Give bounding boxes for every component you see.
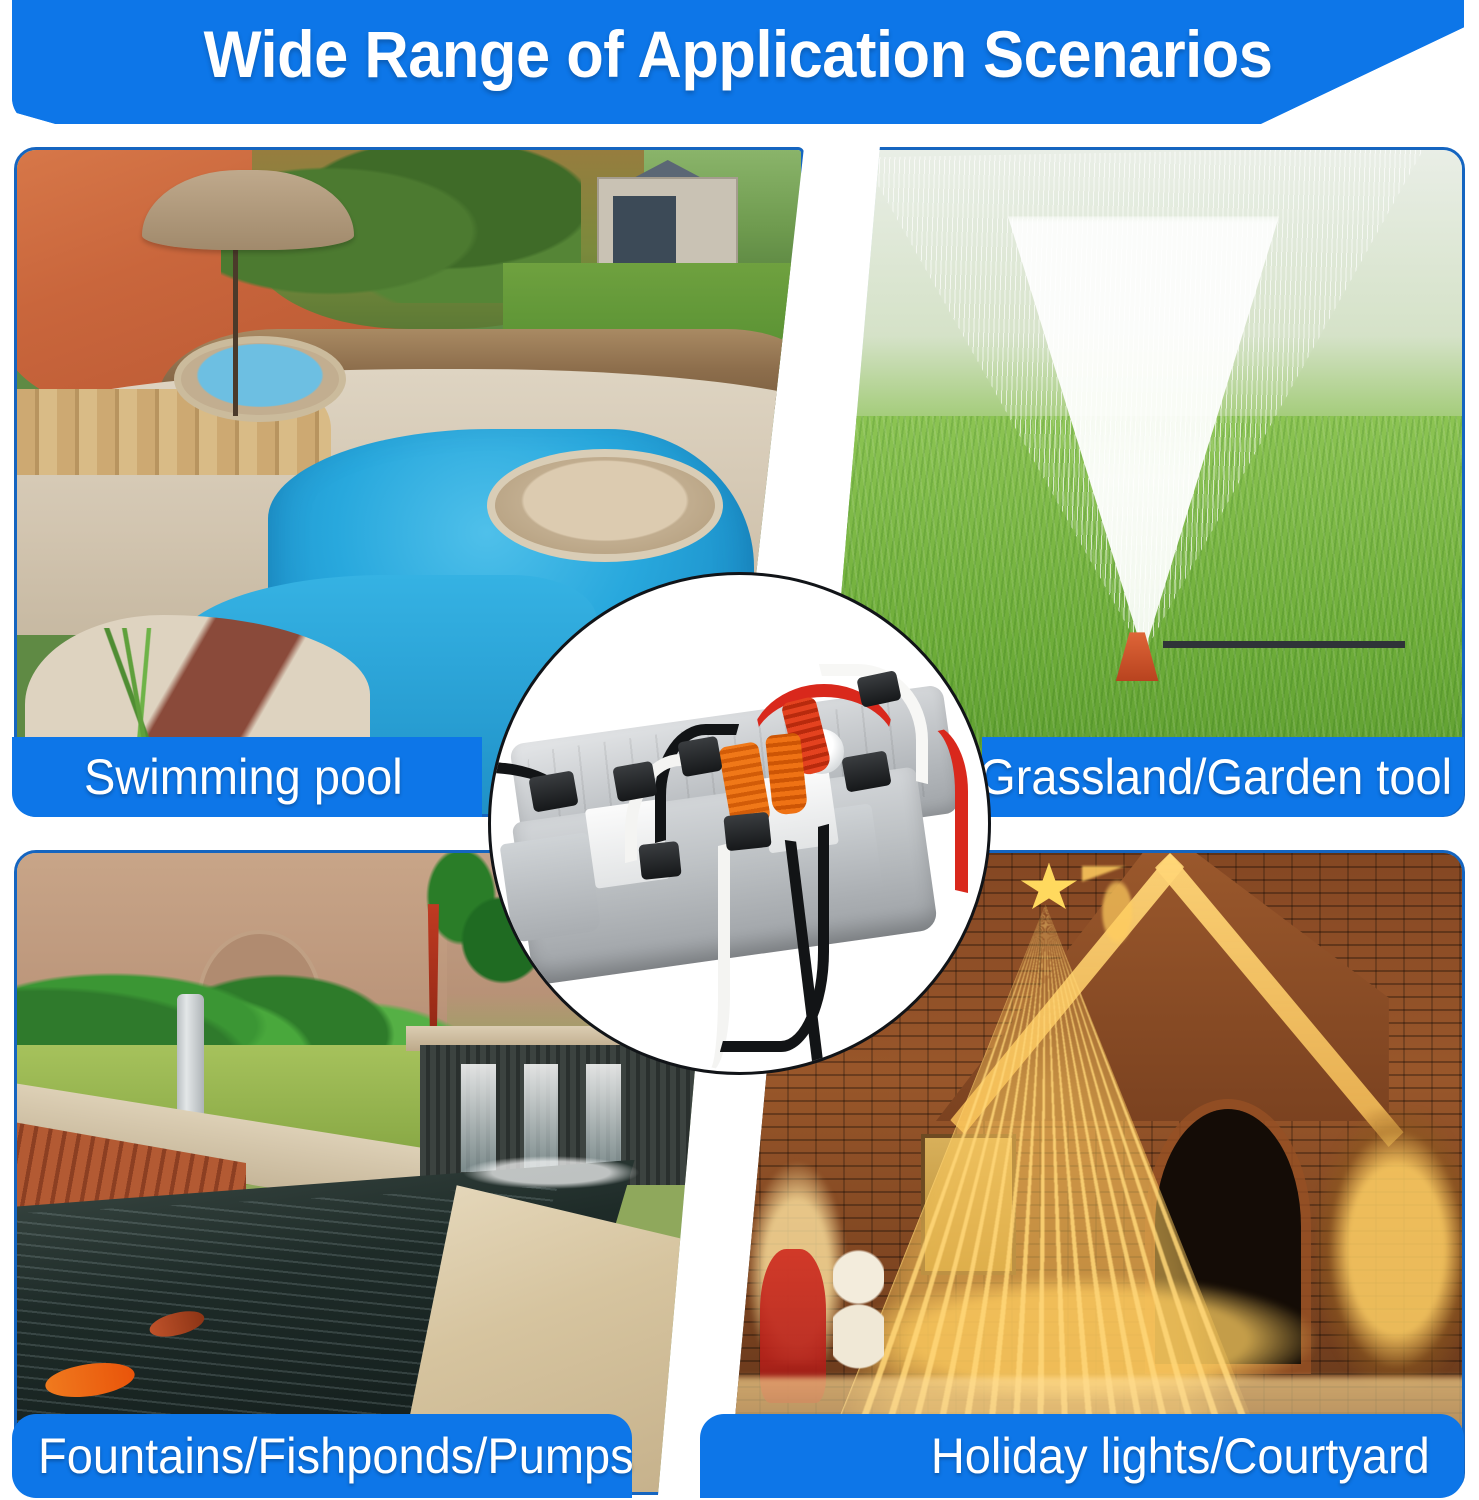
product-closeup-circle bbox=[488, 572, 991, 1075]
header-banner: Wide Range of Application Scenarios bbox=[12, 0, 1464, 124]
pool-spa-right bbox=[487, 449, 722, 562]
waterfall-splash bbox=[447, 1153, 655, 1191]
cord-grip-clamp bbox=[677, 736, 722, 777]
label-fountains-fishponds-pumps: Fountains/Fishponds/Pumps bbox=[12, 1414, 632, 1498]
cord-grip-clamp bbox=[638, 841, 681, 880]
label-fountains-fishponds-pumps-text: Fountains/Fishponds/Pumps bbox=[38, 1427, 634, 1485]
snowman-decoration bbox=[833, 1249, 884, 1390]
label-holiday-lights-courtyard: Holiday lights/Courtyard bbox=[700, 1414, 1464, 1498]
cord-grip-clamp bbox=[723, 811, 771, 850]
infographic-page: Wide Range of Application Scenarios bbox=[0, 0, 1479, 1500]
lit-shrub-right bbox=[1316, 1109, 1465, 1390]
cord-grip-clamp bbox=[613, 761, 658, 802]
label-grassland-garden-tool: Grassland/Garden tool bbox=[982, 737, 1464, 817]
outlet-box-flange-left bbox=[499, 833, 601, 944]
reindeer-light-decoration bbox=[1082, 866, 1170, 1019]
label-swimming-pool: Swimming pool bbox=[12, 737, 482, 817]
cord-grip-clamp bbox=[528, 770, 578, 812]
page-title: Wide Range of Application Scenarios bbox=[63, 8, 1413, 100]
pool-spa-left bbox=[174, 336, 346, 422]
label-holiday-lights-courtyard-text: Holiday lights/Courtyard bbox=[931, 1427, 1430, 1485]
label-swimming-pool-text: Swimming pool bbox=[84, 748, 403, 806]
label-grassland-garden-tool-text: Grassland/Garden tool bbox=[979, 748, 1452, 806]
